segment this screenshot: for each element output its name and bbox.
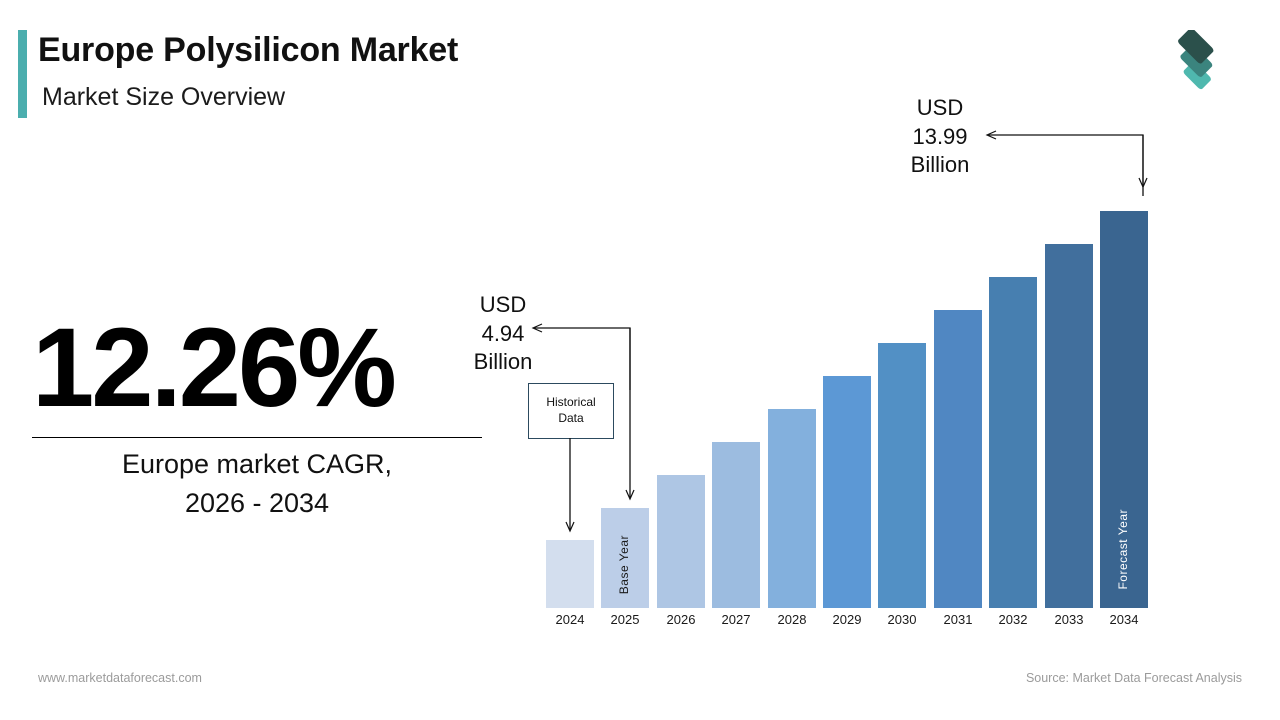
bar-2033	[1045, 244, 1093, 608]
x-axis-label-2029: 2029	[823, 612, 871, 627]
x-axis-label-2034: 2034	[1100, 612, 1148, 627]
base-year-label: Base Year	[617, 535, 631, 594]
bar-2030	[878, 343, 926, 608]
x-axis-label-2032: 2032	[989, 612, 1037, 627]
x-axis-label-2031: 2031	[934, 612, 982, 627]
footer-website[interactable]: www.marketdataforecast.com	[38, 671, 202, 685]
bar-2028	[768, 409, 816, 608]
bar-2024	[546, 540, 594, 608]
x-axis-label-2024: 2024	[546, 612, 594, 627]
bar-2026	[657, 475, 705, 608]
bar-chart: 2024Base Year202520262027202820292030203…	[0, 0, 1280, 720]
footer-source: Source: Market Data Forecast Analysis	[1026, 671, 1242, 685]
x-axis-label-2025: 2025	[601, 612, 649, 627]
infographic-canvas: Europe Polysilicon Market Market Size Ov…	[0, 0, 1280, 720]
bar-2027	[712, 442, 760, 608]
bar-2034: Forecast Year	[1100, 211, 1148, 608]
x-axis-label-2027: 2027	[712, 612, 760, 627]
x-axis-label-2030: 2030	[878, 612, 926, 627]
x-axis-label-2033: 2033	[1045, 612, 1093, 627]
bar-2025: Base Year	[601, 508, 649, 608]
x-axis-label-2028: 2028	[768, 612, 816, 627]
x-axis-label-2026: 2026	[657, 612, 705, 627]
forecast-year-label: Forecast Year	[1116, 509, 1130, 590]
bar-2029	[823, 376, 871, 608]
bar-2032	[989, 277, 1037, 608]
bar-2031	[934, 310, 982, 608]
